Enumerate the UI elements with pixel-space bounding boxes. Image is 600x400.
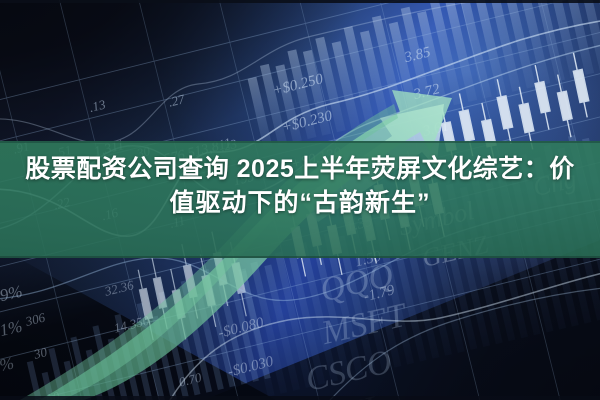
svg-text:3.85: 3.85	[402, 44, 433, 66]
banner-image: .91 .51 .13 .30 .27 .23 .22 .16 .11 +$0.…	[0, 0, 600, 400]
title-band-top-edge	[0, 141, 600, 143]
svg-text:.13: .13	[88, 96, 108, 115]
headline-line-2: 值驱动下的“古韵新生”	[10, 186, 590, 220]
svg-text:89%: 89%	[0, 282, 24, 308]
svg-text:32.36: 32.36	[102, 277, 135, 299]
title-band-bottom-edge	[0, 256, 600, 258]
headline-line-1: 股票配资公司查询 2025上半年荧屏文化综艺：价	[10, 152, 590, 186]
svg-text:30: 30	[31, 344, 49, 362]
svg-text:91%: 91%	[0, 316, 24, 342]
svg-text:306: 306	[23, 309, 47, 329]
svg-text:1%: 1%	[0, 353, 16, 377]
svg-text:.27: .27	[167, 91, 187, 110]
headline-block: 股票配资公司查询 2025上半年荧屏文化综艺：价 值驱动下的“古韵新生”	[0, 152, 600, 220]
